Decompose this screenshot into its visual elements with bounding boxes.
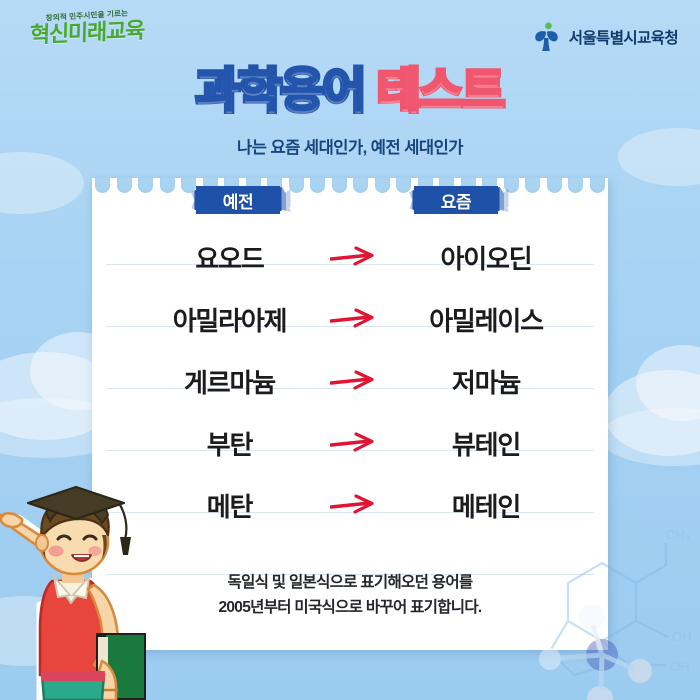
- page-title: 과학용어 테스트: [0, 66, 700, 115]
- person-figure-icon: [532, 22, 560, 52]
- page-subtitle: 나는 요즘 세대인가, 예전 세대인가: [0, 134, 700, 158]
- student-pointing-illustration: [0, 485, 199, 700]
- term-new: 아이오딘: [364, 239, 608, 276]
- term-old: 아밀라아제: [102, 301, 357, 338]
- table-row: 게르마늄 저마늄: [92, 350, 608, 412]
- title-blue-part: 과학용어: [196, 64, 365, 117]
- term-old: 부탄: [102, 425, 357, 462]
- term-new: 메테인: [364, 487, 608, 524]
- table-row: 부탄 뷰테인: [92, 412, 608, 474]
- term-new: 뷰테인: [364, 425, 608, 462]
- office-name-label: 서울특별시교육청: [569, 26, 678, 48]
- logo-brand-name: 혁신미래교육: [22, 19, 152, 47]
- term-old: 게르마늄: [102, 363, 357, 400]
- innovation-education-logo: 창의적 민주시민을 기르는 혁신미래교육: [22, 12, 152, 44]
- column-header-now: 요즘: [414, 186, 498, 214]
- term-old: 요오드: [102, 239, 357, 276]
- seoul-education-office-logo: 서울특별시교육청: [532, 22, 678, 52]
- infographic-poster: 창의적 민주시민을 기르는 혁신미래교육 서울특별시교육청 과학용어 테스트 나…: [0, 0, 700, 700]
- title-red-part: 테스트: [377, 64, 504, 117]
- table-row: 요오드 아이오딘: [92, 226, 608, 288]
- column-header-past: 예전: [196, 186, 280, 214]
- term-new: 아밀레이스: [364, 301, 608, 338]
- table-row: 아밀라아제 아밀레이스: [92, 288, 608, 350]
- term-new: 저마늄: [364, 363, 608, 400]
